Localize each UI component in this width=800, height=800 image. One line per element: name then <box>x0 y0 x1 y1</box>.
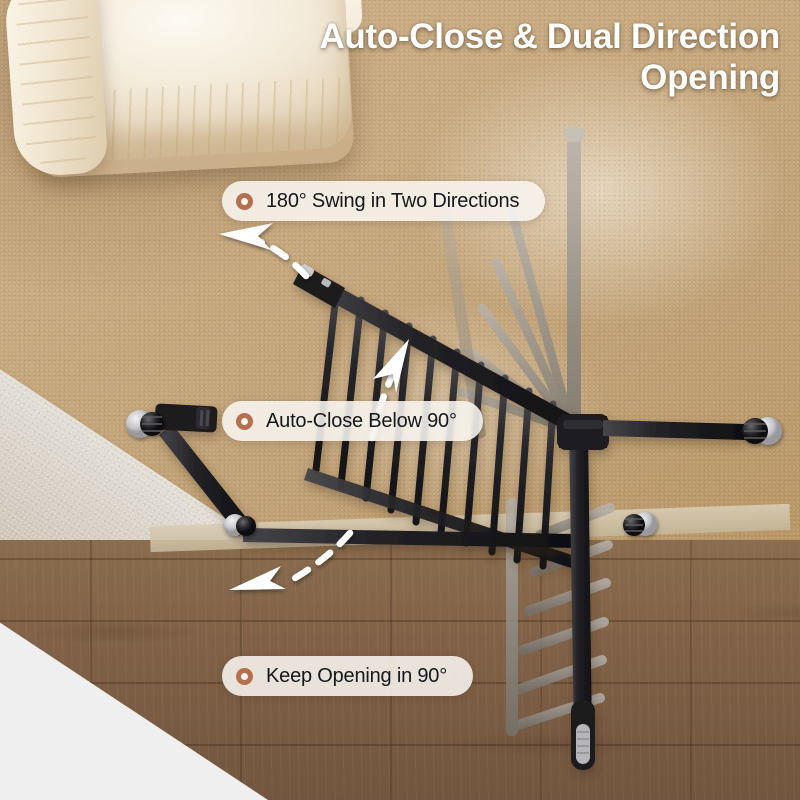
product-feature-image: Auto-Close & Dual Direction Opening 180°… <box>0 0 800 800</box>
callout-auto-close-label: Auto-Close Below 90° <box>266 410 457 433</box>
pressure-mount-left-top <box>126 410 164 438</box>
bullet-icon <box>236 668 253 685</box>
bullet-icon <box>236 413 253 430</box>
swing-arrow-head <box>219 223 273 250</box>
gate-floor-foot <box>571 700 595 770</box>
callout-swing: 180° Swing in Two Directions <box>222 181 545 221</box>
headline: Auto-Close & Dual Direction Opening <box>180 16 780 99</box>
pressure-mount-right-top <box>742 417 782 445</box>
callout-keep-opening-label: Keep Opening in 90° <box>266 665 447 688</box>
callout-auto-close: Auto-Close Below 90° <box>222 401 483 441</box>
left-wall-bracket <box>154 403 217 432</box>
gate-pivot-hub <box>557 414 609 450</box>
pressure-mount-right-bottom <box>623 512 657 536</box>
headline-line-2: Opening <box>180 57 780 98</box>
bullet-icon <box>236 193 253 210</box>
callout-keep-opening: Keep Opening in 90° <box>222 656 473 696</box>
pressure-mount-left-bottom <box>224 514 256 536</box>
headline-line-1: Auto-Close & Dual Direction <box>319 17 780 56</box>
callout-swing-label: 180° Swing in Two Directions <box>266 190 519 213</box>
keep-open-arrow-head <box>229 566 286 590</box>
